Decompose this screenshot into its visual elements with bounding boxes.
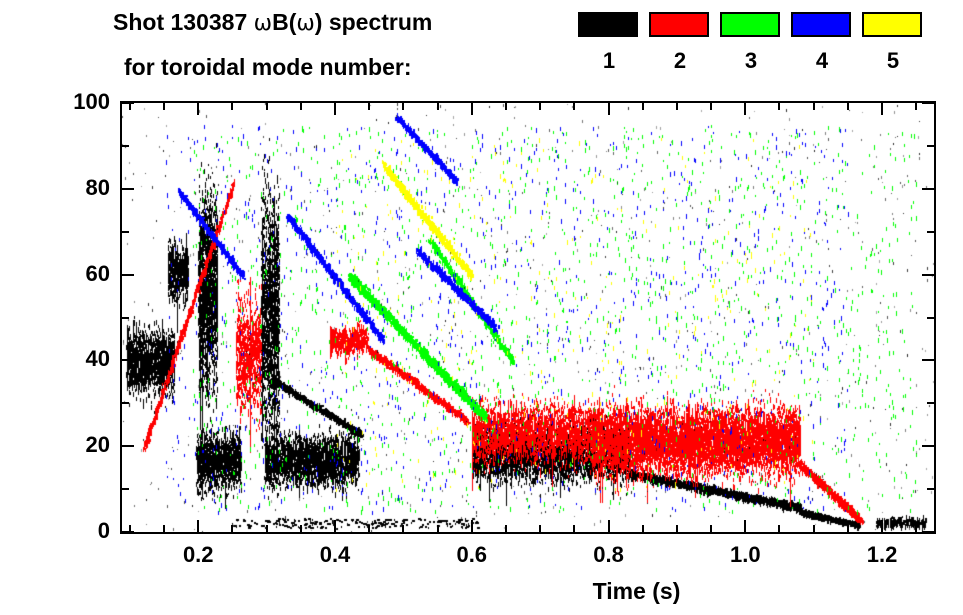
x-tick-0.8 xyxy=(608,520,610,532)
legend-item-5[interactable]: 5 xyxy=(862,12,924,72)
legend-swatch-2 xyxy=(649,12,709,37)
x-tick-0.5 xyxy=(402,525,404,532)
y-tick-right-100 xyxy=(922,102,934,104)
y-tick-right-30 xyxy=(927,402,934,404)
legend-label-1: 1 xyxy=(578,50,640,72)
x-tick-label-0.8: 0.8 xyxy=(569,542,649,568)
x-tick-1 xyxy=(744,520,746,532)
x-tick-0.1 xyxy=(129,525,131,532)
x-tick-top-0.5 xyxy=(402,103,404,110)
y-tick-70 xyxy=(122,231,129,233)
y-tick-30 xyxy=(122,402,129,404)
x-tick-0.6 xyxy=(471,520,473,532)
x-tick-top-0.8 xyxy=(608,103,610,115)
y-tick-right-20 xyxy=(922,445,934,447)
x-tick-1.05 xyxy=(778,525,780,532)
x-tick-0.95 xyxy=(710,525,712,532)
y-tick-50 xyxy=(122,317,129,319)
x-tick-top-0.65 xyxy=(505,103,507,110)
y-tick-right-80 xyxy=(922,188,934,190)
x-tick-1.1 xyxy=(813,525,815,532)
x-tick-top-0.15 xyxy=(163,103,165,110)
y-tick-10 xyxy=(122,488,129,490)
x-tick-label-1.2: 1.2 xyxy=(842,542,922,568)
x-tick-top-0.55 xyxy=(437,103,439,110)
y-tick-label-60: 60 xyxy=(40,261,110,287)
spectrogram-figure: Shot 130387 ωB(ω) spectrum for toroidal … xyxy=(0,0,963,615)
legend-label-4: 4 xyxy=(791,50,853,72)
x-tick-label-1.0: 1.0 xyxy=(705,542,785,568)
x-tick-1.2 xyxy=(881,520,883,532)
legend-swatch-3 xyxy=(720,12,780,37)
x-tick-0.2 xyxy=(197,520,199,532)
y-tick-label-20: 20 xyxy=(40,432,110,458)
x-axis-title-wrapper: Time (s) xyxy=(0,578,963,605)
y-tick-20 xyxy=(122,445,134,447)
y-tick-right-60 xyxy=(922,274,934,276)
y-tick-40 xyxy=(122,359,134,361)
x-tick-top-0.45 xyxy=(368,103,370,110)
legend-item-1[interactable]: 1 xyxy=(578,12,640,72)
legend-label-5: 5 xyxy=(862,50,924,72)
x-tick-top-0.95 xyxy=(710,103,712,110)
x-tick-top-1.1 xyxy=(813,103,815,110)
legend-swatch-4 xyxy=(791,12,851,37)
x-tick-0.15 xyxy=(163,525,165,532)
x-tick-0.65 xyxy=(505,525,507,532)
x-tick-0.55 xyxy=(437,525,439,532)
x-tick-0.7 xyxy=(539,525,541,532)
x-tick-top-0.85 xyxy=(642,103,644,110)
x-tick-top-0.7 xyxy=(539,103,541,110)
legend-label-2: 2 xyxy=(649,50,711,72)
y-tick-60 xyxy=(122,274,134,276)
figure-title-line-2: for toroidal mode number: xyxy=(124,54,412,81)
x-tick-top-0.25 xyxy=(231,103,233,110)
plot-frame xyxy=(120,101,936,534)
x-tick-top-0.4 xyxy=(334,103,336,115)
x-tick-0.4 xyxy=(334,520,336,532)
y-tick-90 xyxy=(122,145,129,147)
x-tick-top-0.6 xyxy=(471,103,473,115)
y-tick-label-40: 40 xyxy=(40,346,110,372)
omega-symbol-1: ω xyxy=(254,11,272,36)
x-tick-1.15 xyxy=(847,525,849,532)
x-tick-0.35 xyxy=(300,525,302,532)
x-tick-top-0.35 xyxy=(300,103,302,110)
x-tick-top-0.9 xyxy=(676,103,678,110)
legend-swatch-1 xyxy=(578,12,638,37)
x-tick-top-1.05 xyxy=(778,103,780,110)
y-tick-right-10 xyxy=(927,488,934,490)
x-tick-0.9 xyxy=(676,525,678,532)
x-axis-title: Time (s) xyxy=(593,578,681,605)
omega-symbol-2: ω xyxy=(296,11,314,36)
x-tick-0.3 xyxy=(266,525,268,532)
legend-item-3[interactable]: 3 xyxy=(720,12,782,72)
legend: 12345 xyxy=(578,12,948,88)
x-tick-top-1.25 xyxy=(915,103,917,110)
legend-swatch-5 xyxy=(862,12,922,37)
x-tick-0.85 xyxy=(642,525,644,532)
y-tick-right-90 xyxy=(927,145,934,147)
title-prefix: Shot 130387 xyxy=(113,9,254,35)
x-tick-label-0.4: 0.4 xyxy=(295,542,375,568)
x-tick-top-1 xyxy=(744,103,746,115)
legend-label-3: 3 xyxy=(720,50,782,72)
x-tick-0.25 xyxy=(231,525,233,532)
x-tick-top-1.15 xyxy=(847,103,849,110)
legend-item-2[interactable]: 2 xyxy=(649,12,711,72)
x-tick-label-0.2: 0.2 xyxy=(158,542,238,568)
x-tick-top-1.2 xyxy=(881,103,883,115)
x-tick-top-0.75 xyxy=(573,103,575,110)
y-tick-right-0 xyxy=(922,531,934,533)
x-tick-top-0.3 xyxy=(266,103,268,110)
y-tick-label-0: 0 xyxy=(40,518,110,544)
x-tick-label-0.6: 0.6 xyxy=(432,542,512,568)
legend-item-4[interactable]: 4 xyxy=(791,12,853,72)
figure-title-line-1: Shot 130387 ωB(ω) spectrum xyxy=(113,9,432,36)
x-tick-top-0.2 xyxy=(197,103,199,115)
title-mid: B( xyxy=(272,9,296,35)
x-tick-top-0.1 xyxy=(129,103,131,110)
x-tick-1.25 xyxy=(915,525,917,532)
title-suffix: ) spectrum xyxy=(315,9,433,35)
x-tick-0.45 xyxy=(368,525,370,532)
y-tick-right-40 xyxy=(922,359,934,361)
spectrogram-canvas xyxy=(122,103,934,532)
y-tick-80 xyxy=(122,188,134,190)
y-tick-right-70 xyxy=(927,231,934,233)
y-tick-right-50 xyxy=(927,317,934,319)
y-tick-label-100: 100 xyxy=(40,89,110,115)
x-tick-0.75 xyxy=(573,525,575,532)
y-tick-label-80: 80 xyxy=(40,175,110,201)
